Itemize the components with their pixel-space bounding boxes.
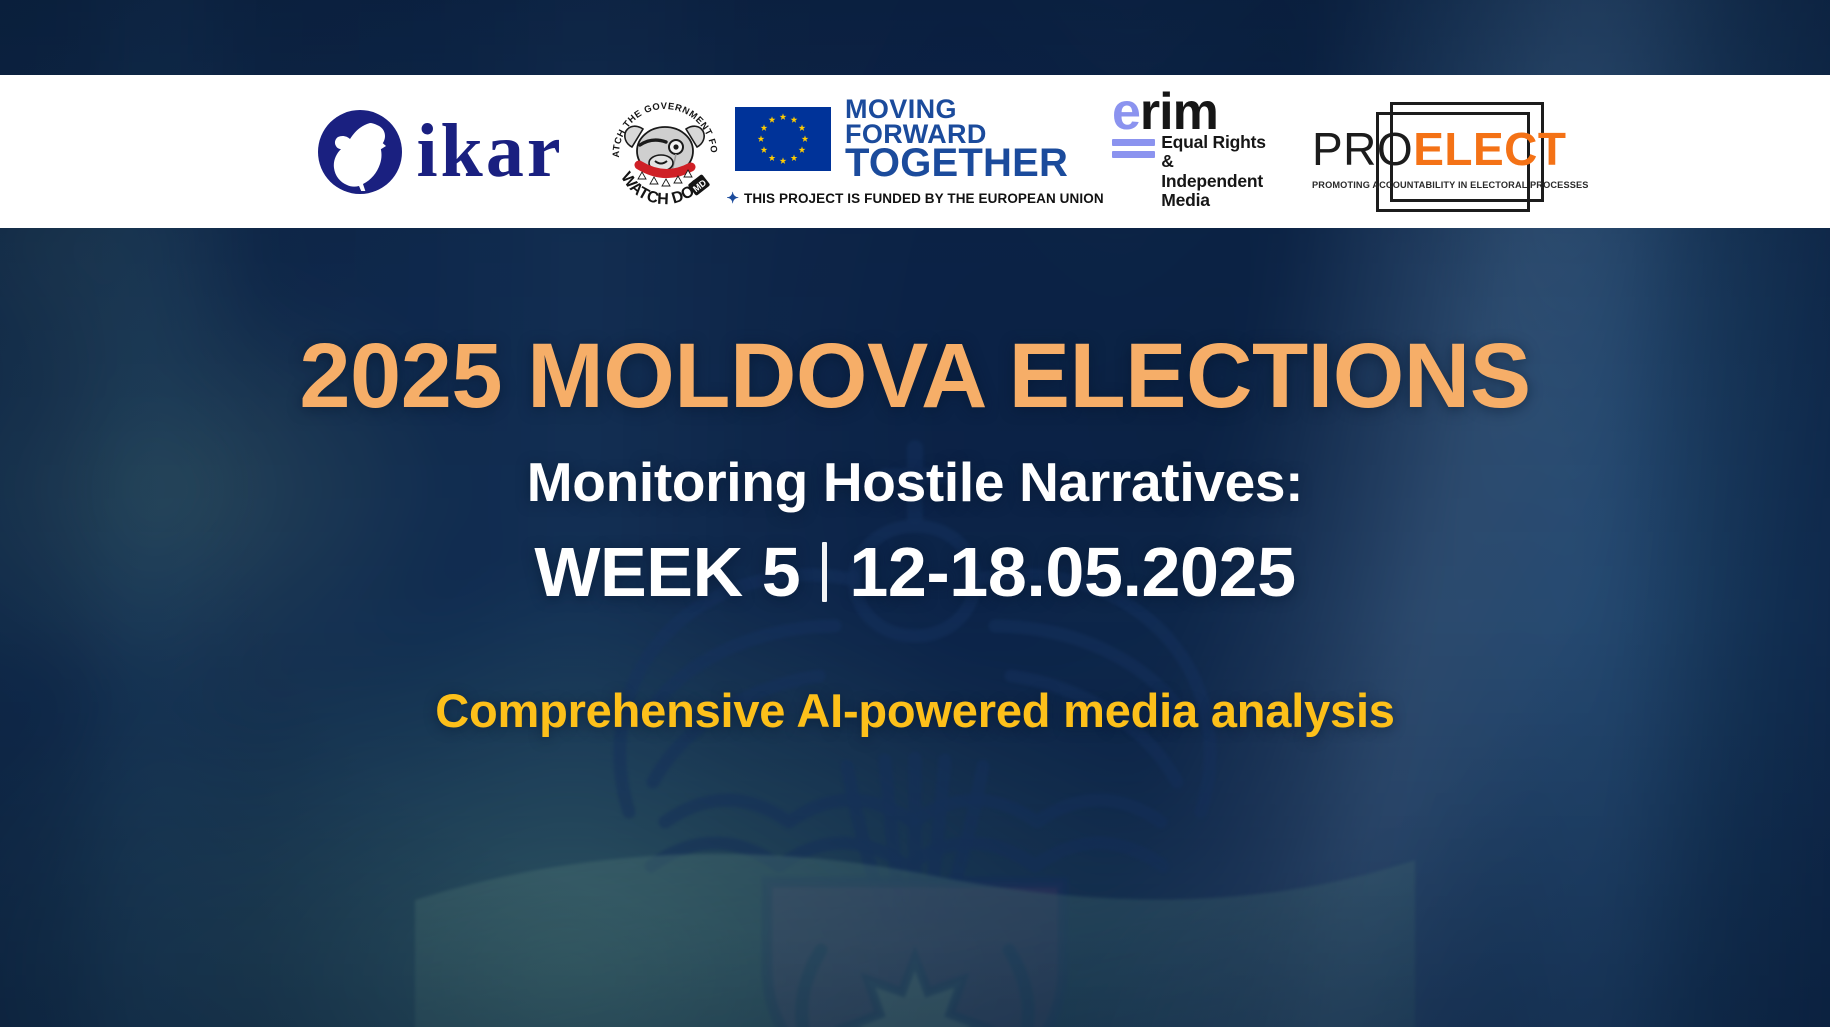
dove-in-circle-icon — [318, 110, 402, 194]
erim-tagline: Equal Rights & Independent Media — [1155, 133, 1278, 211]
eu-slogan-line2: TOGETHER — [845, 145, 1095, 182]
eu-funding-note-text: THIS PROJECT IS FUNDED BY THE EUROPEAN U… — [744, 191, 1104, 206]
ikar-wordmark: ikar — [416, 120, 563, 182]
hero-section: 2025 MOLDOVA ELECTIONS Monitoring Hostil… — [0, 228, 1830, 1027]
proelect-wordmark-accent: ELECT — [1413, 123, 1566, 175]
partner-logo-ikar[interactable]: ikar — [265, 75, 595, 228]
erim-tagline-line1: Equal Rights — [1161, 133, 1278, 153]
erim-wordmark-rest: rim — [1140, 92, 1218, 133]
hero-week-label: WEEK 5 — [534, 536, 800, 610]
four-point-star-icon: ✦ — [726, 191, 739, 206]
partner-logo-erim[interactable]: e rim Equal Rights & Independent Media — [1095, 75, 1295, 228]
proelect-wordmark-dark: PRO — [1312, 123, 1413, 175]
eu-slogan-line1: MOVING FORWARD — [845, 97, 1095, 147]
erim-tagline-line2: & Independent — [1161, 152, 1278, 191]
erim-tagline-line3: Media — [1161, 191, 1278, 211]
eu-flag-icon — [735, 107, 831, 171]
proelect-tagline: PROMOTING ACCOUNTABILITY IN ELECTORAL PR… — [1312, 180, 1548, 190]
hero-date-range: 12-18.05.2025 — [849, 536, 1295, 610]
partner-logo-bar: ikar — [0, 75, 1830, 228]
eu-funding-note: ✦ THIS PROJECT IS FUNDED BY THE EUROPEAN… — [726, 191, 1103, 206]
partner-logo-proelect[interactable]: PROELECT PROMOTING ACCOUNTABILITY IN ELE… — [1295, 75, 1565, 228]
hero-week-line: WEEK 5 12-18.05.2025 — [0, 536, 1830, 610]
page-title: 2025 MOLDOVA ELECTIONS — [0, 330, 1830, 424]
hero-subtitle: Monitoring Hostile Narratives: — [0, 454, 1830, 512]
partner-logo-watchdog-md[interactable]: WE WATCH THE GOVERNMENT FOR YOU WATCH DO… — [595, 75, 735, 228]
partner-logo-eu-moving-forward-together[interactable]: MOVING FORWARD TOGETHER ✦ THIS PROJECT I… — [735, 75, 1095, 228]
hero-tagline: Comprehensive AI-powered media analysis — [0, 683, 1830, 738]
erim-wordmark-accent: e — [1112, 92, 1140, 133]
slide-root: ikar — [0, 0, 1830, 1027]
hero-separator-bar — [822, 542, 827, 602]
bulldog-head-icon: WE WATCH THE GOVERNMENT FOR YOU WATCH DO… — [606, 93, 724, 211]
erim-equals-bars-icon — [1112, 139, 1155, 211]
